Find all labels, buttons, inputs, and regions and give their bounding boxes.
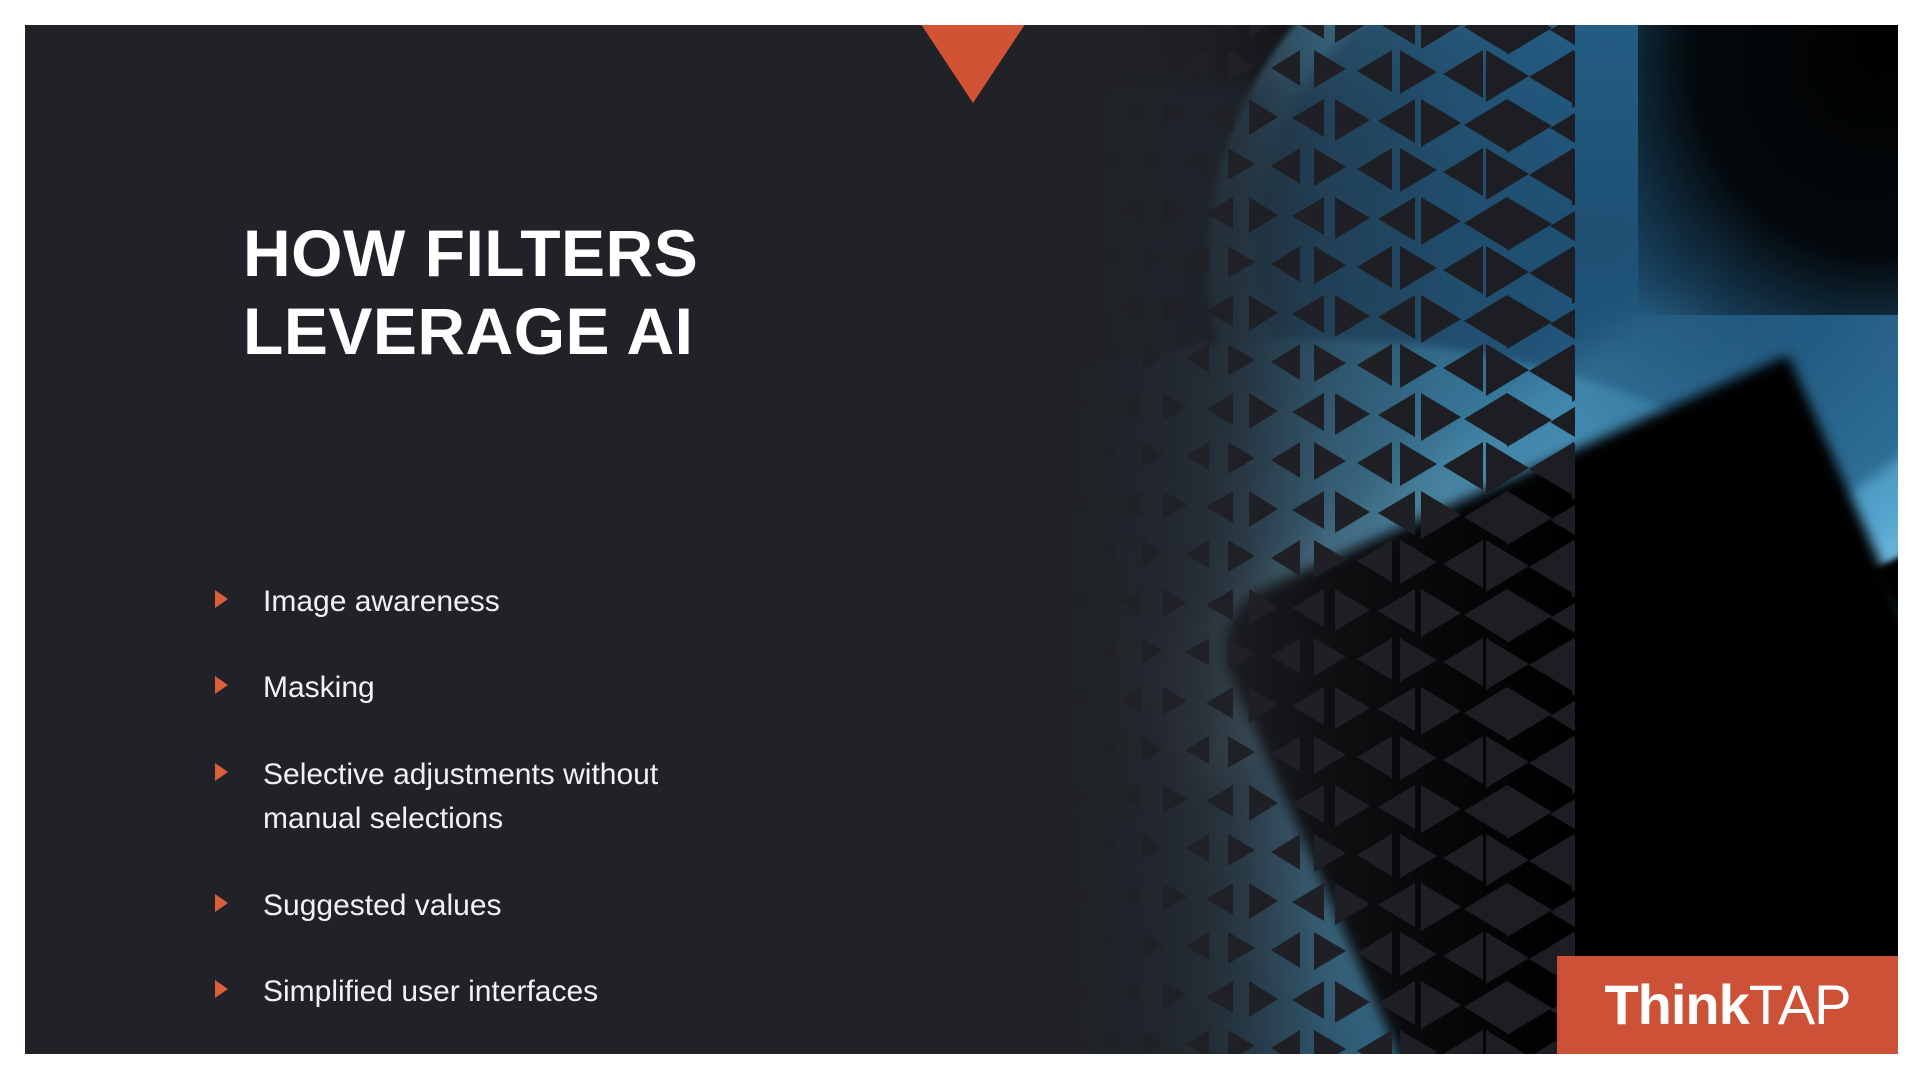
mosaic-triangle-left-icon (1443, 1030, 1483, 1055)
list-item-label: Suggested values (263, 884, 502, 928)
mosaic-triangle-right-icon (970, 344, 980, 356)
mosaic-triangle-left-icon (1378, 687, 1415, 731)
mosaic-triangle-right-icon (970, 834, 980, 846)
mosaic-triangle-right-icon (991, 491, 1004, 507)
mosaic-triangle-right-icon (1249, 393, 1278, 429)
mosaic-triangle-left-icon (948, 785, 958, 797)
mosaic-triangle-left-icon (1185, 148, 1209, 176)
mosaic-triangle-left-icon (1185, 344, 1209, 372)
mosaic-triangle-right-icon (1228, 540, 1255, 572)
mosaic-triangle-right-icon (1314, 540, 1346, 578)
mosaic-triangle-right-icon (1486, 834, 1529, 886)
mosaic-triangle-right-icon (1400, 932, 1437, 976)
mosaic-triangle-left-icon (1292, 295, 1324, 333)
logo-text: ThinkTAP (1604, 977, 1850, 1033)
mosaic-triangle-right-icon (1572, 246, 1576, 304)
mosaic-triangle-left-icon (1185, 540, 1209, 568)
mosaic-triangle-right-icon (1314, 834, 1346, 872)
dark-wedge (1203, 355, 1898, 1054)
mosaic-triangle-right-icon (1335, 589, 1370, 631)
mosaic-triangle-left-icon (948, 589, 958, 601)
mosaic-triangle-right-icon (970, 442, 980, 454)
mosaic-triangle-right-icon (1421, 25, 1461, 49)
mosaic-triangle-right-icon (1228, 736, 1255, 768)
mosaic-triangle-right-icon (1400, 736, 1437, 780)
mosaic-triangle-left-icon (1099, 638, 1117, 660)
mosaic-triangle-left-icon (1185, 246, 1209, 274)
logo-text-bold: Think (1604, 973, 1748, 1036)
mosaic-triangle-left-icon (948, 981, 958, 993)
mosaic-triangle-right-icon (1142, 736, 1163, 762)
mosaic-triangle-right-icon (1228, 834, 1255, 866)
list-item: Selective adjustments without manual sel… (215, 753, 865, 842)
mosaic-triangle-right-icon (1486, 148, 1529, 200)
photo-fade-overlay (905, 25, 1325, 1054)
presentation-slide: HOW FILTERS LEVERAGE AI Image awareness … (25, 25, 1898, 1054)
mosaic-triangle-left-icon (1120, 981, 1141, 1007)
mosaic-triangle-right-icon (1228, 50, 1255, 82)
mosaic-triangle-right-icon (970, 246, 980, 258)
mosaic-triangle-right-icon (1077, 99, 1095, 121)
mosaic-triangle-right-icon (1335, 295, 1370, 337)
mosaic-triangle-right-icon (1486, 736, 1529, 788)
mosaic-triangle-right-icon (1421, 589, 1461, 637)
mosaic-triangle-left-icon (1378, 295, 1415, 339)
bullet-triangle-icon (215, 894, 228, 912)
mosaic-triangle-right-icon (1335, 491, 1370, 533)
list-item: Simplified user interfaces (215, 970, 865, 1014)
mosaic-triangle-right-icon (1249, 295, 1278, 331)
mosaic-triangle-left-icon (1550, 295, 1575, 353)
mosaic-triangle-right-icon (1335, 99, 1370, 141)
mosaic-triangle-left-icon (1292, 393, 1324, 431)
title-line-1: HOW FILTERS (243, 215, 863, 293)
mosaic-triangle-right-icon (1142, 344, 1163, 370)
mosaic-triangle-right-icon (1314, 148, 1346, 186)
mosaic-triangle-right-icon (1314, 1030, 1346, 1055)
mosaic-triangle-left-icon (1529, 50, 1574, 104)
mosaic-triangle-right-icon (1507, 785, 1552, 839)
mosaic-triangle-right-icon (1400, 540, 1437, 584)
mosaic-triangle-right-icon (1400, 834, 1437, 878)
mosaic-triangle-right-icon (1163, 981, 1187, 1009)
mosaic-triangle-right-icon (1421, 981, 1461, 1029)
mosaic-triangle-right-icon (1228, 344, 1255, 376)
mosaic-triangle-right-icon (1228, 932, 1255, 964)
mosaic-triangle-left-icon (1206, 99, 1233, 131)
mosaic-triangle-right-icon (1314, 736, 1346, 774)
mosaic-triangle-left-icon (1464, 589, 1507, 641)
mosaic-triangle-left-icon (1120, 687, 1141, 713)
mosaic-triangle-left-icon (1550, 99, 1575, 157)
mosaic-triangle-left-icon (1099, 540, 1117, 562)
mosaic-triangle-right-icon (905, 491, 913, 501)
mosaic-triangle-right-icon (905, 687, 913, 697)
mosaic-triangle-left-icon (1464, 785, 1507, 837)
mosaic-triangle-right-icon (1142, 1030, 1163, 1055)
mosaic-triangle-left-icon (1378, 491, 1415, 535)
mosaic-triangle-left-icon (927, 1030, 935, 1040)
list-item: Image awareness (215, 580, 865, 624)
mosaic-triangle-left-icon (1550, 883, 1575, 941)
mosaic-triangle-left-icon (1292, 99, 1324, 137)
logo-text-light: TAP (1749, 973, 1851, 1036)
thinktap-logo: ThinkTAP (1557, 956, 1898, 1054)
mosaic-triangle-left-icon (1206, 589, 1233, 621)
mosaic-triangle-left-icon (1443, 540, 1483, 588)
mosaic-veil-overlay (905, 25, 1575, 1054)
mosaic-triangle-right-icon (991, 197, 1004, 213)
mosaic-triangle-left-icon (1357, 246, 1392, 288)
mosaic-triangle-left-icon (1443, 442, 1483, 490)
mosaic-triangle-right-icon (1400, 638, 1437, 682)
mosaic-triangle-right-icon (1056, 442, 1072, 460)
mosaic-triangle-right-icon (1486, 638, 1529, 690)
mosaic-triangle-right-icon (1507, 491, 1552, 545)
mosaic-triangle-right-icon (1335, 785, 1370, 827)
mosaic-triangle-right-icon (991, 785, 1004, 801)
mosaic-triangle-right-icon (1507, 99, 1552, 153)
mosaic-triangle-left-icon (1443, 50, 1483, 98)
mosaic-triangle-left-icon (1013, 148, 1026, 164)
mosaic-triangle-left-icon (1550, 491, 1575, 549)
mosaic-triangle-left-icon (1443, 834, 1483, 882)
mosaic-triangle-left-icon (1550, 393, 1575, 451)
mosaic-triangle-right-icon (1314, 344, 1346, 382)
mosaic-triangle-right-icon (1507, 25, 1552, 55)
mosaic-triangle-right-icon (970, 1030, 980, 1042)
mosaic-triangle-right-icon (1163, 99, 1187, 127)
mosaic-triangle-left-icon (1013, 442, 1026, 458)
mosaic-triangle-left-icon (927, 148, 935, 158)
mosaic-triangle-right-icon (1249, 99, 1278, 135)
abstract-blue-photo (905, 25, 1898, 1054)
mosaic-triangle-right-icon (1163, 295, 1187, 323)
mosaic-triangle-left-icon (948, 687, 958, 699)
mosaic-triangle-right-icon (1077, 197, 1095, 219)
mosaic-triangle-left-icon (1206, 393, 1233, 425)
mosaic-triangle-left-icon (1013, 638, 1026, 654)
mosaic-triangle-left-icon (1099, 1030, 1117, 1052)
mosaic-triangle-right-icon (1077, 785, 1095, 807)
mosaic-triangle-left-icon (1443, 344, 1483, 392)
mosaic-triangle-right-icon (1163, 25, 1187, 29)
mosaic-triangle-left-icon (1292, 197, 1324, 235)
mosaic-triangle-left-icon (1099, 932, 1117, 954)
list-item-label: Image awareness (263, 580, 500, 624)
mosaic-triangle-left-icon (1378, 393, 1415, 437)
mosaic-triangle-left-icon (1529, 442, 1574, 496)
mosaic-triangle-right-icon (1486, 932, 1529, 984)
mosaic-triangle-left-icon (1120, 883, 1141, 909)
glow-shape-primary (1168, 25, 1898, 660)
mosaic-triangle-right-icon (1077, 589, 1095, 611)
mosaic-triangle-left-icon (1206, 883, 1233, 915)
mosaic-triangle-right-icon (1228, 148, 1255, 180)
mosaic-triangle-left-icon (1099, 246, 1117, 268)
mosaic-triangle-right-icon (1228, 442, 1255, 474)
glow-shape-secondary (905, 150, 1898, 1054)
mosaic-triangle-right-icon (1486, 344, 1529, 396)
mosaic-triangle-right-icon (1507, 981, 1552, 1035)
mosaic-triangle-left-icon (1099, 344, 1117, 366)
mosaic-triangle-right-icon (991, 393, 1004, 409)
mosaic-triangle-right-icon (1486, 540, 1529, 592)
mosaic-triangle-left-icon (1034, 393, 1050, 411)
mosaic-triangle-left-icon (948, 295, 958, 307)
triangle-mosaic-pattern (905, 25, 1575, 1054)
mosaic-triangle-right-icon (1249, 25, 1278, 37)
mosaic-triangle-left-icon (1464, 981, 1507, 1033)
mosaic-triangle-left-icon (1378, 785, 1415, 829)
mosaic-triangle-left-icon (1099, 50, 1117, 72)
mosaic-triangle-right-icon (1335, 687, 1370, 729)
mosaic-triangle-right-icon (970, 736, 980, 748)
mosaic-triangle-right-icon (991, 295, 1004, 311)
mosaic-triangle-left-icon (1550, 785, 1575, 843)
mosaic-triangle-left-icon (1292, 589, 1324, 627)
mosaic-triangle-left-icon (1271, 834, 1300, 870)
mosaic-triangle-right-icon (991, 687, 1004, 703)
mosaic-triangle-left-icon (1464, 393, 1507, 445)
mosaic-triangle-left-icon (1464, 295, 1507, 347)
mosaic-triangle-right-icon (1400, 148, 1437, 192)
bullet-triangle-icon (215, 763, 228, 781)
mosaic-triangle-left-icon (1206, 491, 1233, 523)
mosaic-triangle-right-icon (905, 393, 913, 403)
mosaic-triangle-left-icon (927, 540, 935, 550)
mosaic-triangle-left-icon (1185, 442, 1209, 470)
mosaic-triangle-right-icon (1249, 981, 1278, 1017)
mosaic-triangle-right-icon (1142, 638, 1163, 664)
mosaic-triangle-left-icon (1529, 638, 1574, 692)
mosaic-triangle-left-icon (927, 344, 935, 354)
mosaic-triangle-left-icon (1120, 99, 1141, 125)
mosaic-triangle-right-icon (1335, 25, 1370, 43)
mosaic-triangle-right-icon (1056, 148, 1072, 166)
mosaic-triangle-left-icon (1464, 883, 1507, 935)
mosaic-triangle-right-icon (1163, 491, 1187, 519)
mosaic-triangle-right-icon (1421, 491, 1461, 539)
list-item: Suggested values (215, 884, 865, 928)
mosaic-triangle-right-icon (1163, 883, 1187, 911)
mosaic-triangle-right-icon (1314, 932, 1346, 970)
mosaic-triangle-left-icon (1357, 736, 1392, 778)
mosaic-triangle-right-icon (1249, 589, 1278, 625)
mosaic-triangle-left-icon (1357, 148, 1392, 190)
mosaic-triangle-left-icon (1529, 540, 1574, 594)
mosaic-triangle-right-icon (1421, 883, 1461, 931)
mosaic-triangle-left-icon (1206, 197, 1233, 229)
mosaic-triangle-right-icon (1314, 442, 1346, 480)
mosaic-triangle-left-icon (1013, 344, 1026, 360)
mosaic-triangle-left-icon (1099, 736, 1117, 758)
mosaic-triangle-left-icon (1271, 148, 1300, 184)
mosaic-triangle-left-icon (1120, 295, 1141, 321)
mosaic-triangle-right-icon (1572, 442, 1576, 500)
mosaic-triangle-left-icon (1013, 932, 1026, 948)
mosaic-triangle-left-icon (1099, 148, 1117, 170)
mosaic-triangle-right-icon (1421, 687, 1461, 735)
mosaic-triangle-right-icon (1142, 834, 1163, 860)
mosaic-triangle-left-icon (948, 197, 958, 209)
mosaic-triangle-left-icon (948, 883, 958, 895)
mosaic-triangle-right-icon (1507, 393, 1552, 447)
mosaic-triangle-left-icon (1550, 687, 1575, 745)
mosaic-triangle-right-icon (1572, 638, 1576, 696)
glow-shape-left-band (905, 85, 1405, 1054)
mosaic-triangle-left-icon (927, 246, 935, 256)
mosaic-triangle-left-icon (1464, 687, 1507, 739)
mosaic-triangle-left-icon (1550, 25, 1575, 59)
mosaic-triangle-right-icon (1056, 932, 1072, 950)
mosaic-triangle-left-icon (1464, 197, 1507, 249)
mosaic-triangle-left-icon (1357, 834, 1392, 876)
mosaic-triangle-left-icon (1357, 442, 1392, 484)
mosaic-triangle-left-icon (1357, 540, 1392, 582)
mosaic-triangle-left-icon (927, 736, 935, 746)
mosaic-triangle-left-icon (1529, 148, 1574, 202)
mosaic-triangle-right-icon (1400, 50, 1437, 94)
mosaic-triangle-right-icon (1507, 589, 1552, 643)
mosaic-triangle-right-icon (905, 883, 913, 893)
mosaic-triangle-right-icon (1335, 197, 1370, 239)
mosaic-triangle-left-icon (1529, 246, 1574, 300)
mosaic-triangle-left-icon (927, 442, 935, 452)
orange-triangle-marker-icon (905, 25, 1041, 103)
mosaic-triangle-left-icon (1120, 393, 1141, 419)
mosaic-triangle-right-icon (1572, 148, 1576, 206)
mosaic-triangle-right-icon (1572, 736, 1576, 794)
mosaic-triangle-left-icon (1034, 785, 1050, 803)
mosaic-triangle-left-icon (1443, 246, 1483, 294)
mosaic-triangle-right-icon (905, 197, 913, 207)
mosaic-triangle-left-icon (1443, 638, 1483, 686)
mosaic-triangle-right-icon (1572, 540, 1576, 598)
mosaic-triangle-right-icon (1142, 246, 1163, 272)
mosaic-triangle-left-icon (1292, 25, 1324, 39)
mosaic-triangle-left-icon (1120, 197, 1141, 223)
mosaic-triangle-right-icon (1056, 246, 1072, 264)
mosaic-triangle-right-icon (1077, 883, 1095, 905)
mosaic-triangle-left-icon (1357, 1030, 1392, 1055)
bullet-triangle-icon (215, 676, 228, 694)
mosaic-triangle-right-icon (1228, 246, 1255, 278)
mosaic-triangle-left-icon (1443, 932, 1483, 980)
slide-content: HOW FILTERS LEVERAGE AI Image awareness … (25, 25, 905, 1054)
mosaic-triangle-right-icon (1572, 50, 1576, 108)
list-item-label: Simplified user interfaces (263, 970, 598, 1014)
mosaic-triangle-right-icon (1507, 687, 1552, 741)
mosaic-triangle-left-icon (1206, 295, 1233, 327)
bullet-list: Image awareness Masking Selective adjust… (215, 580, 865, 1014)
mosaic-triangle-left-icon (1357, 50, 1392, 92)
mosaic-triangle-right-icon (991, 981, 1004, 997)
mosaic-triangle-right-icon (1142, 442, 1163, 468)
mosaic-triangle-right-icon (1163, 687, 1187, 715)
mosaic-triangle-left-icon (1357, 932, 1392, 974)
mosaic-triangle-right-icon (1314, 246, 1346, 284)
mosaic-triangle-left-icon (1271, 1030, 1300, 1055)
mosaic-triangle-left-icon (1378, 197, 1415, 241)
mosaic-triangle-right-icon (1421, 99, 1461, 147)
mosaic-triangle-right-icon (1572, 344, 1576, 402)
mosaic-triangle-left-icon (1529, 834, 1574, 888)
mosaic-triangle-left-icon (1357, 638, 1392, 680)
mosaic-triangle-left-icon (1185, 932, 1209, 960)
mosaic-triangle-right-icon (1056, 638, 1072, 656)
mosaic-triangle-right-icon (970, 638, 980, 650)
mosaic-triangle-left-icon (1099, 834, 1117, 856)
mosaic-triangle-right-icon (1077, 393, 1095, 415)
mosaic-triangle-left-icon (1464, 491, 1507, 543)
mosaic-triangle-left-icon (1206, 25, 1233, 33)
mosaic-triangle-right-icon (1335, 981, 1370, 1023)
mosaic-triangle-right-icon (1056, 540, 1072, 558)
list-item: Masking (215, 666, 865, 710)
mosaic-triangle-right-icon (1249, 197, 1278, 233)
mosaic-triangle-left-icon (1185, 736, 1209, 764)
mosaic-triangle-left-icon (1292, 981, 1324, 1019)
mosaic-triangle-left-icon (1271, 50, 1300, 86)
mosaic-triangle-right-icon (905, 589, 913, 599)
mosaic-triangle-left-icon (927, 932, 935, 942)
mosaic-triangle-left-icon (1013, 246, 1026, 262)
mosaic-triangle-left-icon (1185, 834, 1209, 862)
mosaic-triangle-right-icon (1486, 1030, 1529, 1055)
mosaic-triangle-right-icon (905, 785, 913, 795)
mosaic-triangle-left-icon (1271, 736, 1300, 772)
mosaic-triangle-right-icon (1077, 981, 1095, 1003)
title-line-2: LEVERAGE AI (243, 293, 863, 371)
mosaic-triangle-right-icon (1507, 883, 1552, 937)
mosaic-triangle-right-icon (1056, 50, 1072, 68)
mosaic-triangle-right-icon (1421, 295, 1461, 343)
mosaic-triangle-right-icon (1249, 491, 1278, 527)
mosaic-triangle-right-icon (1228, 1030, 1255, 1055)
mosaic-triangle-left-icon (1529, 344, 1574, 398)
mosaic-triangle-right-icon (1486, 246, 1529, 298)
mosaic-triangle-left-icon (1443, 148, 1483, 196)
mosaic-triangle-left-icon (1464, 25, 1507, 53)
bullet-triangle-icon (215, 980, 228, 998)
mosaic-triangle-right-icon (905, 295, 913, 305)
mosaic-triangle-right-icon (1421, 785, 1461, 833)
mosaic-triangle-right-icon (1163, 197, 1187, 225)
mosaic-triangle-left-icon (1271, 932, 1300, 968)
mosaic-triangle-left-icon (1292, 785, 1324, 823)
mosaic-triangle-right-icon (1486, 50, 1529, 102)
mosaic-triangle-right-icon (1056, 1030, 1072, 1048)
mosaic-triangle-left-icon (1550, 589, 1575, 647)
mosaic-triangle-right-icon (1056, 834, 1072, 852)
mosaic-triangle-left-icon (1013, 1030, 1026, 1046)
mosaic-triangle-right-icon (1163, 589, 1187, 617)
mosaic-triangle-right-icon (970, 540, 980, 552)
mosaic-triangle-right-icon (1163, 785, 1187, 813)
mosaic-triangle-left-icon (948, 393, 958, 405)
mosaic-triangle-left-icon (1013, 834, 1026, 850)
mosaic-triangle-right-icon (1421, 197, 1461, 245)
page-title: HOW FILTERS LEVERAGE AI (243, 215, 863, 371)
mosaic-triangle-left-icon (1120, 785, 1141, 811)
mosaic-triangle-right-icon (1314, 638, 1346, 676)
mosaic-triangle-right-icon (1249, 687, 1278, 723)
mosaic-triangle-right-icon (1421, 393, 1461, 441)
mosaic-triangle-right-icon (1249, 785, 1278, 821)
mosaic-triangle-left-icon (1013, 736, 1026, 752)
mosaic-triangle-left-icon (1529, 736, 1574, 790)
